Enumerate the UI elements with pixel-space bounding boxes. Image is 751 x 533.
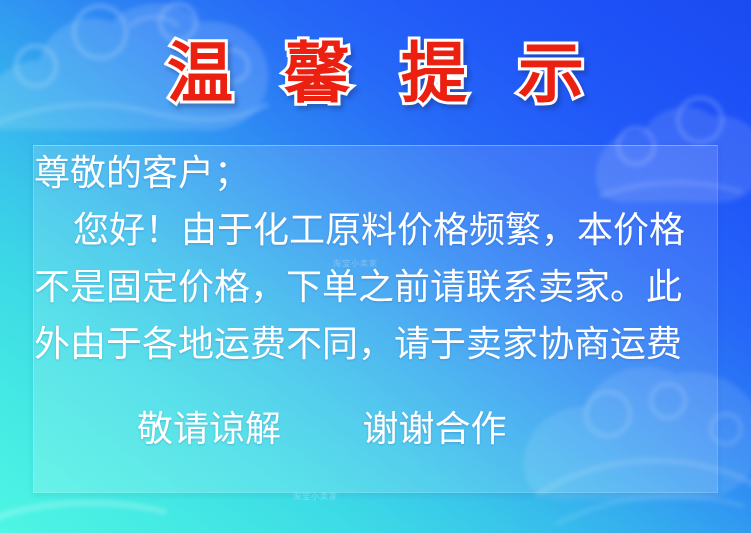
body-line-1: 尊敬的客户； — [33, 145, 733, 202]
closing-left: 敬请谅解 — [137, 409, 281, 450]
notice-closing: 敬请谅解 谢谢合作 — [33, 404, 733, 456]
notice-poster: 温 馨 提 示 尊敬的客户； 您好！由于化工原料价格频繁，本价格 不是固定价格，… — [0, 0, 751, 533]
watermark-lower: 淘宝小卖家 — [293, 491, 338, 502]
watermark-upper: 淘宝小卖家 — [333, 258, 378, 269]
body-line-4: 外由于各地运费不同，请于卖家协商运费 — [33, 316, 733, 373]
title-block: 温 馨 提 示 — [0, 36, 751, 112]
cloud-bottom-left — [0, 503, 166, 520]
body-line-2: 您好！由于化工原料价格频繁，本价格 — [33, 202, 733, 259]
body-line-3: 不是固定价格，下单之前请联系卖家。此 — [33, 259, 733, 316]
page-title: 温 馨 提 示 — [153, 36, 598, 112]
closing-right: 谢谢合作 — [362, 409, 506, 450]
